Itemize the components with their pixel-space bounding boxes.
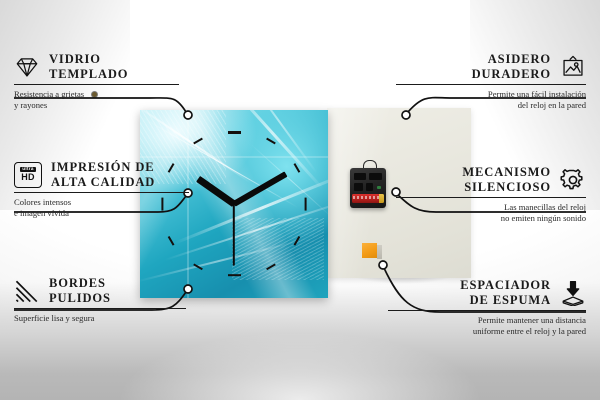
glass-seam <box>140 156 328 158</box>
feature-description: Las manecillas del reloj no emiten ningú… <box>396 202 586 223</box>
movement-slot <box>354 173 366 180</box>
diamond-icon <box>14 54 40 80</box>
foam-spacer-pad <box>362 243 377 258</box>
feature-title: ESPACIADOR DE ESPUMA <box>460 278 551 307</box>
feature-title: MECANISMO SILENCIOSO <box>462 165 551 194</box>
feature-title: ASIDERO DURADERO <box>472 52 551 81</box>
gear-icon <box>560 167 586 193</box>
feature-title: BORDES PULIDOS <box>49 276 111 305</box>
feature-espaciador-espuma: ESPACIADOR DE ESPUMA Permite mantener un… <box>388 278 586 336</box>
feature-divider <box>14 84 179 85</box>
feature-vidrio-templado: VIDRIO TEMPLADO Resistencia a grietas y … <box>14 52 179 110</box>
feature-asidero-duradero: ASIDERO DURADERO Permite una fácil insta… <box>396 52 586 110</box>
feature-bordes-pulidos: BORDES PULIDOS Superficie lisa y segura <box>14 276 186 324</box>
feature-divider <box>388 310 586 311</box>
feature-head: MECANISMO SILENCIOSO <box>396 165 586 194</box>
ultra-hd-icon: ultra HD <box>14 162 42 188</box>
second-hand <box>233 204 235 266</box>
feature-description: Colores intensos e imagen vívida <box>14 197 189 218</box>
feature-divider <box>396 84 586 85</box>
feature-head: BORDES PULIDOS <box>14 276 186 305</box>
foam-spacer-shadow <box>377 245 382 259</box>
ultra-hd-big-label: HD <box>21 173 34 182</box>
feature-divider <box>396 197 586 198</box>
polished-edges-icon <box>14 278 40 304</box>
movement-marking <box>377 186 381 189</box>
battery-label <box>353 196 379 199</box>
feature-title: VIDRIO TEMPLADO <box>49 52 128 81</box>
feature-mecanismo-silencioso: MECANISMO SILENCIOSO Las manecillas del … <box>396 165 586 223</box>
feature-description: Resistencia a grietas y rayones <box>14 89 179 110</box>
infographic-canvas: VIDRIO TEMPLADO Resistencia a grietas y … <box>0 0 600 400</box>
feature-divider <box>14 308 186 309</box>
feather-texture <box>232 218 324 280</box>
picture-hanger-icon <box>560 54 586 80</box>
feature-title: IMPRESIÓN DE ALTA CALIDAD <box>51 160 155 189</box>
feature-description: Permite mantener una distancia uniforme … <box>388 315 586 336</box>
feature-head: ultra HD IMPRESIÓN DE ALTA CALIDAD <box>14 160 189 189</box>
battery-terminal <box>379 194 384 203</box>
feature-description: Permite una fácil instalación del reloj … <box>396 89 586 110</box>
foam-spacer-icon <box>560 280 586 306</box>
feature-head: ASIDERO DURADERO <box>396 52 586 81</box>
clock-tick <box>304 197 306 210</box>
feature-impresion-alta-calidad: ultra HD IMPRESIÓN DE ALTA CALIDAD Color… <box>14 160 189 218</box>
feature-head: ESPACIADOR DE ESPUMA <box>388 278 586 307</box>
movement-slot <box>354 183 363 191</box>
feature-divider <box>14 192 189 193</box>
movement-slot <box>369 173 382 180</box>
clock-tick <box>228 131 241 133</box>
feature-description: Superficie lisa y segura <box>14 313 186 324</box>
feature-head: VIDRIO TEMPLADO <box>14 52 179 81</box>
movement-slot <box>366 183 373 191</box>
